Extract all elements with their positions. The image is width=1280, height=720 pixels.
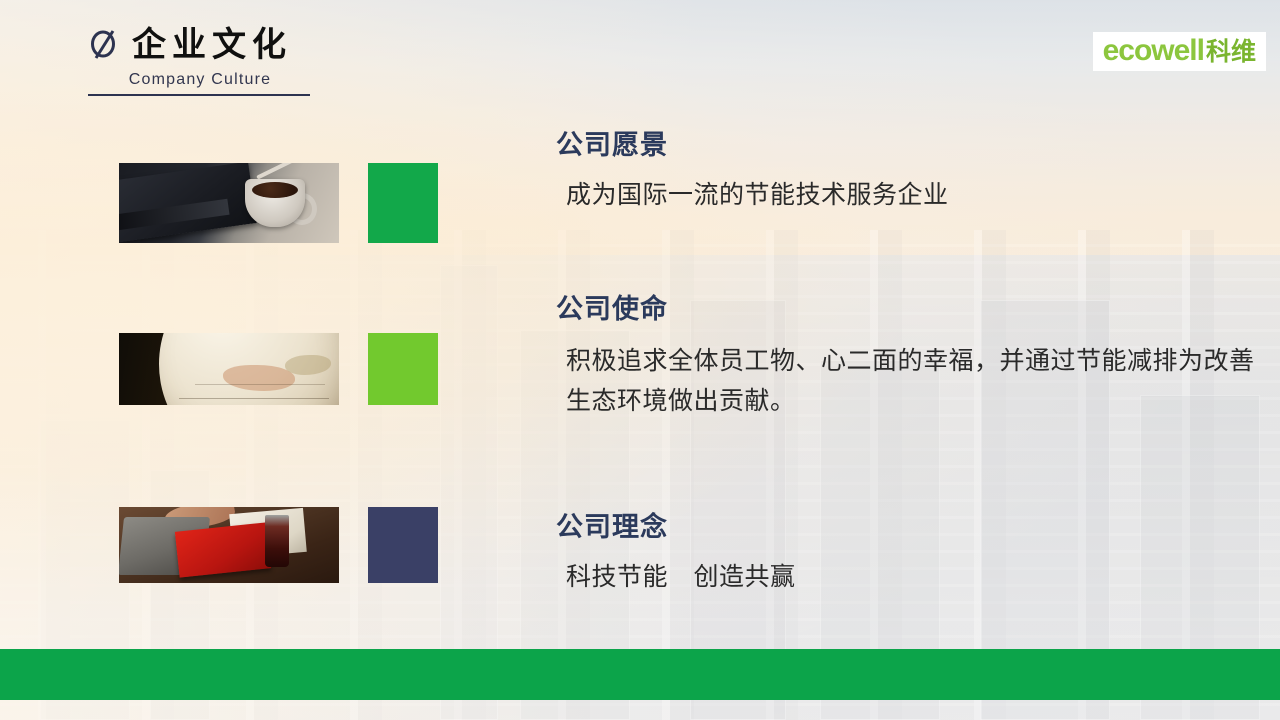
ecowell-logo: ecowell 科维 bbox=[1093, 32, 1266, 71]
title-underline bbox=[88, 94, 310, 96]
section-body: 科技节能 创造共赢 bbox=[556, 557, 1256, 598]
section-vision: 公司愿景 成为国际一流的节能技术服务企业 bbox=[556, 131, 1256, 215]
slide-company-culture: 企业文化 Company Culture ecowell 科维 bbox=[0, 0, 1280, 720]
photo-content bbox=[119, 507, 339, 583]
light-green-swatch bbox=[368, 333, 438, 405]
photo-shape bbox=[179, 398, 329, 399]
page-title-block: 企业文化 Company Culture bbox=[88, 28, 312, 96]
navy-swatch bbox=[368, 507, 438, 583]
page-title-en: Company Culture bbox=[88, 71, 312, 89]
section-body: 成为国际一流的节能技术服务企业 bbox=[556, 175, 1256, 216]
section-mission: 公司使命 积极追求全体员工物、心二面的幸福，并通过节能减排为改善生态环境做出贡献… bbox=[556, 295, 1256, 422]
green-swatch bbox=[368, 163, 438, 243]
notebook-and-coffee-photo bbox=[119, 163, 339, 243]
photo-shape bbox=[252, 182, 298, 198]
slashed-circle-icon bbox=[88, 28, 120, 62]
media-row bbox=[119, 163, 438, 243]
section-title: 公司愿景 bbox=[556, 131, 1256, 161]
globe-photo bbox=[119, 333, 339, 405]
logo-wordmark: ecowell bbox=[1103, 36, 1204, 66]
section-title: 公司使命 bbox=[556, 295, 1256, 325]
photo-content bbox=[119, 163, 339, 243]
media-row bbox=[119, 507, 438, 583]
section-title: 公司理念 bbox=[556, 513, 1256, 543]
logo-wordmark-cn: 科维 bbox=[1206, 40, 1256, 65]
bottom-accent-bar bbox=[0, 649, 1280, 700]
photo-shape bbox=[175, 522, 271, 577]
desk-laptop-notebook-photo bbox=[119, 507, 339, 583]
media-row bbox=[119, 333, 438, 405]
photo-shape bbox=[195, 384, 325, 385]
photo-shape bbox=[256, 163, 294, 180]
page-title-cn: 企业文化 bbox=[132, 28, 292, 62]
section-philosophy: 公司理念 科技节能 创造共赢 bbox=[556, 513, 1256, 597]
photo-shape bbox=[119, 163, 257, 242]
photo-content bbox=[119, 333, 339, 405]
title-row: 企业文化 bbox=[88, 28, 312, 62]
photo-shape bbox=[265, 515, 289, 567]
section-body: 积极追求全体员工物、心二面的幸福，并通过节能减排为改善生态环境做出贡献。 bbox=[556, 341, 1256, 422]
